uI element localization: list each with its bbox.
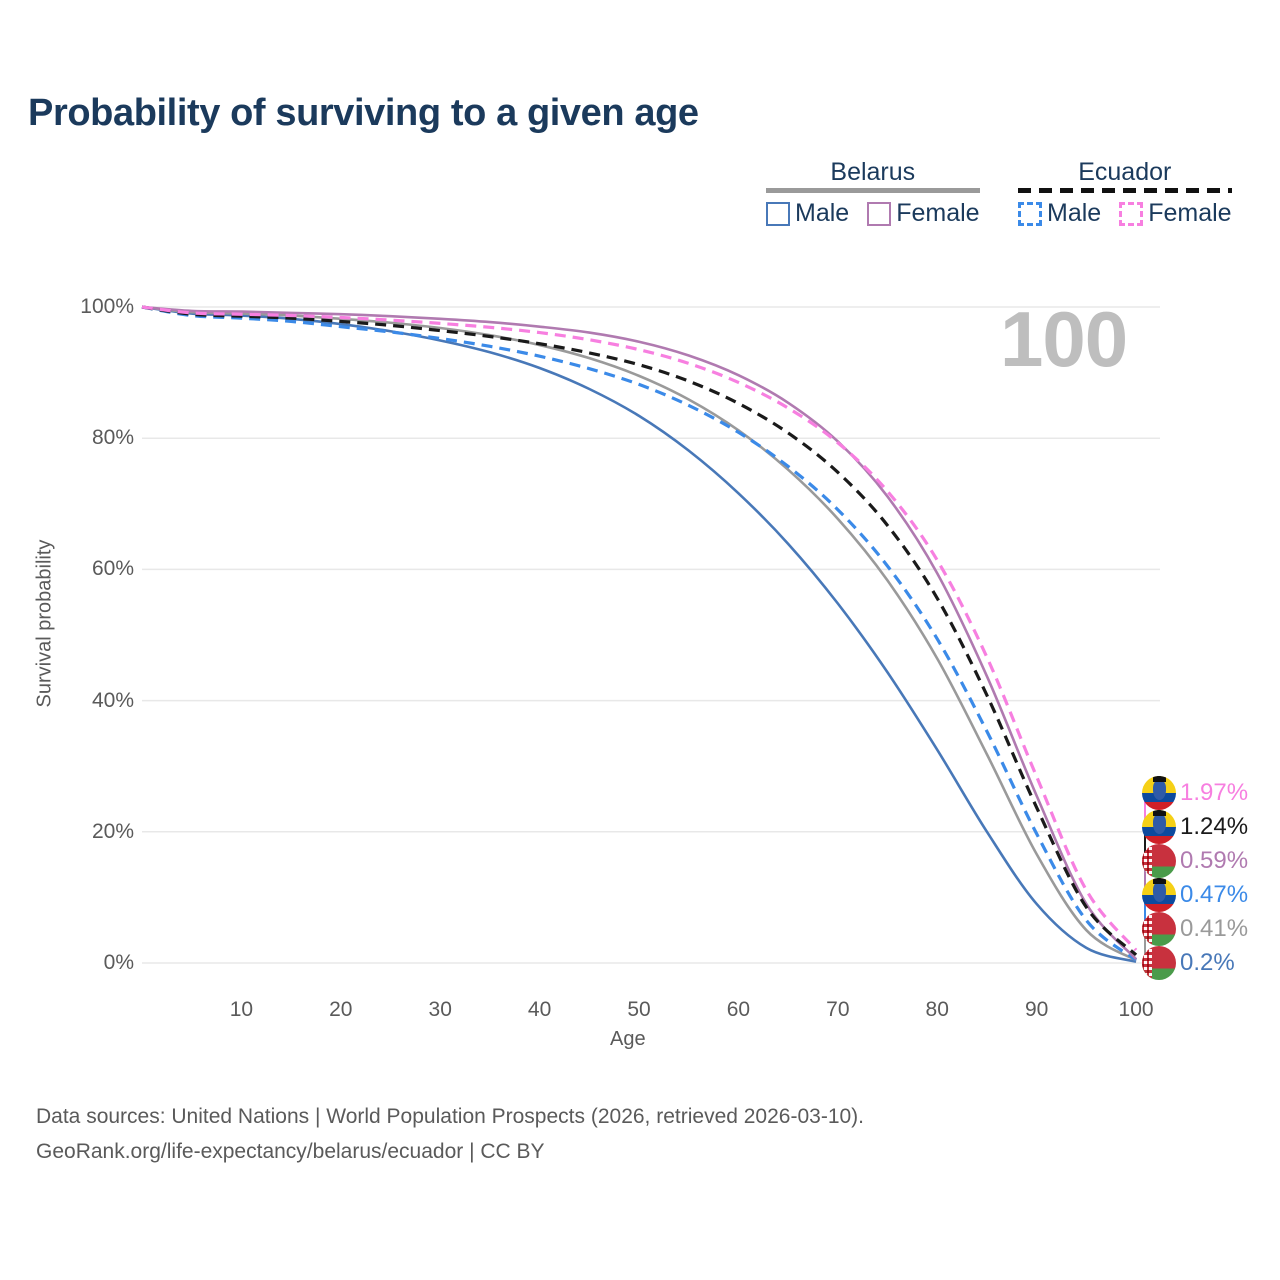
series-end-value: 0.47% <box>1180 882 1248 908</box>
x-tick-label: 90 <box>1007 998 1067 1022</box>
series-line <box>142 307 1136 955</box>
x-tick-label: 40 <box>510 998 570 1022</box>
x-tick-label: 30 <box>410 998 470 1022</box>
y-tick-label: 40% <box>92 689 134 713</box>
series-end-label: 1.24% <box>1142 810 1248 844</box>
series-line <box>142 307 1136 960</box>
series-line <box>142 307 1136 962</box>
flag-ornament <box>1142 844 1152 878</box>
y-tick-label: 100% <box>80 295 134 319</box>
series-end-value: 0.59% <box>1180 848 1248 874</box>
x-tick-label: 60 <box>708 998 768 1022</box>
series-line <box>142 307 1136 960</box>
x-tick-label: 80 <box>907 998 967 1022</box>
x-tick-label: 10 <box>211 998 271 1022</box>
flag-belarus-icon <box>1142 912 1176 946</box>
flag-belarus-icon <box>1142 946 1176 980</box>
series-line <box>142 307 1136 959</box>
y-tick-label: 0% <box>104 951 134 975</box>
series-end-label: 0.2% <box>1142 946 1235 980</box>
flag-coat-of-arms <box>1153 780 1166 800</box>
series-end-value: 1.24% <box>1180 814 1248 840</box>
series-end-label: 0.47% <box>1142 878 1248 912</box>
flag-ecuador-icon <box>1142 878 1176 912</box>
plot-watermark: 100 <box>1000 300 1127 378</box>
chart-page: Probability of surviving to a given age … <box>0 0 1280 1280</box>
y-tick-label: 80% <box>92 426 134 450</box>
x-tick-label: 100 <box>1106 998 1166 1022</box>
flag-ecuador-icon <box>1142 810 1176 844</box>
y-axis-title: Survival probability <box>34 524 57 724</box>
flag-coat-of-arms <box>1153 882 1166 902</box>
footer-attribution: GeoRank.org/life-expectancy/belarus/ecua… <box>36 1140 545 1164</box>
series-end-value: 1.97% <box>1180 780 1248 806</box>
flag-ornament <box>1142 946 1152 980</box>
x-axis-title: Age <box>610 1028 646 1051</box>
series-end-label: 0.41% <box>1142 912 1248 946</box>
series-end-labels: 1.97%1.24%0.59%0.47%0.41%0.2% <box>1142 770 1280 985</box>
series-end-label: 0.59% <box>1142 844 1248 878</box>
x-tick-label: 20 <box>311 998 371 1022</box>
flag-belarus-icon <box>1142 844 1176 878</box>
plot-svg <box>0 0 1280 1280</box>
x-tick-label: 70 <box>808 998 868 1022</box>
flag-coat-of-arms <box>1153 814 1166 834</box>
footer-source: Data sources: United Nations | World Pop… <box>36 1105 864 1129</box>
y-tick-label: 60% <box>92 557 134 581</box>
series-end-label: 1.97% <box>1142 776 1248 810</box>
x-tick-label: 50 <box>609 998 669 1022</box>
plot-area: 100 0%20%40%60%80%100% 10203040506070809… <box>0 0 1280 1280</box>
flag-ornament <box>1142 912 1152 946</box>
series-end-value: 0.2% <box>1180 950 1235 976</box>
series-end-value: 0.41% <box>1180 916 1248 942</box>
series-line <box>142 307 1136 950</box>
flag-ecuador-icon <box>1142 776 1176 810</box>
y-tick-label: 20% <box>92 820 134 844</box>
